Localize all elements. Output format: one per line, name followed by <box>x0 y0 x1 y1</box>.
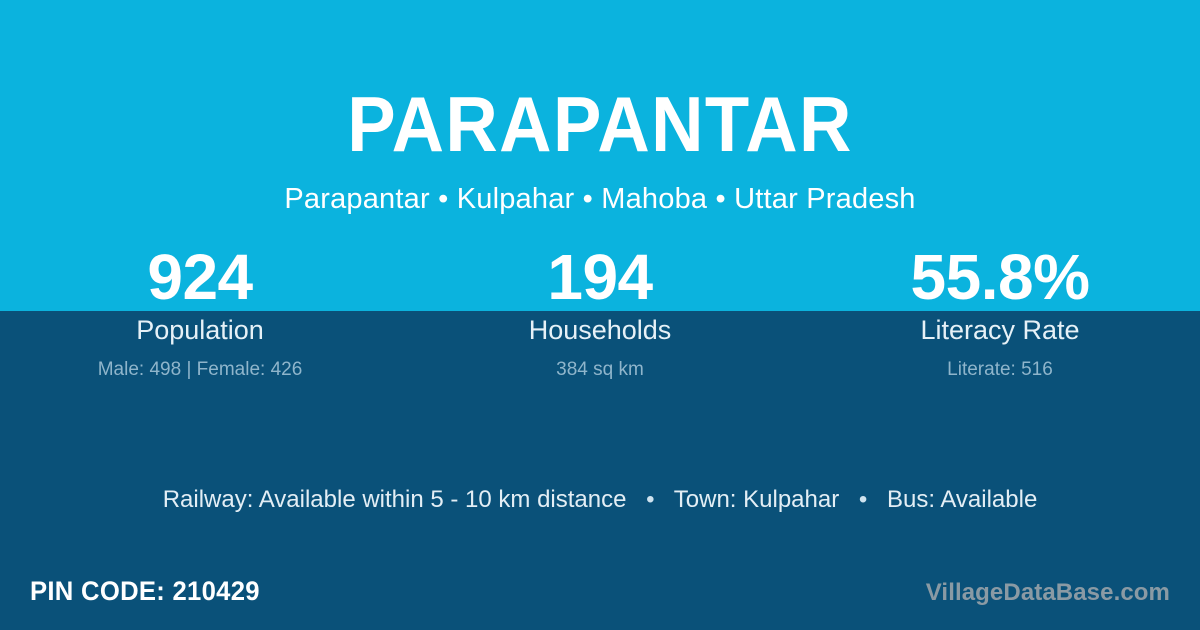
breadcrumb: Parapantar • Kulpahar • Mahoba • Uttar P… <box>0 182 1200 216</box>
site-brand: VillageDataBase.com <box>926 578 1170 607</box>
stats-row: 924 Population Male: 498 | Female: 426 1… <box>0 244 1200 381</box>
town-info: Town: Kulpahar <box>674 486 839 513</box>
households-value: 194 <box>400 244 800 310</box>
page-title: PARAPANTAR <box>42 82 1158 166</box>
stat-literacy: 55.8% Literacy Rate Literate: 516 <box>800 244 1200 381</box>
stat-population: 924 Population Male: 498 | Female: 426 <box>0 244 400 381</box>
population-label: Population <box>0 315 400 346</box>
literacy-label: Literacy Rate <box>800 315 1200 346</box>
literacy-value: 55.8% <box>800 244 1200 310</box>
amenities-line: Railway: Available within 5 - 10 km dist… <box>0 485 1200 515</box>
info-separator-2: • <box>846 485 880 515</box>
literacy-detail: Literate: 516 <box>800 358 1200 381</box>
population-value: 924 <box>0 244 400 310</box>
bus-info: Bus: Available <box>887 486 1037 513</box>
households-detail: 384 sq km <box>400 358 800 381</box>
info-separator-1: • <box>633 485 667 515</box>
village-info-card: PARAPANTAR Parapantar • Kulpahar • Mahob… <box>0 0 1200 630</box>
stat-households: 194 Households 384 sq km <box>400 244 800 381</box>
railway-info: Railway: Available within 5 - 10 km dist… <box>163 486 627 513</box>
pin-code: PIN CODE: 210429 <box>30 575 260 607</box>
households-label: Households <box>400 315 800 346</box>
population-detail: Male: 498 | Female: 426 <box>0 358 400 381</box>
